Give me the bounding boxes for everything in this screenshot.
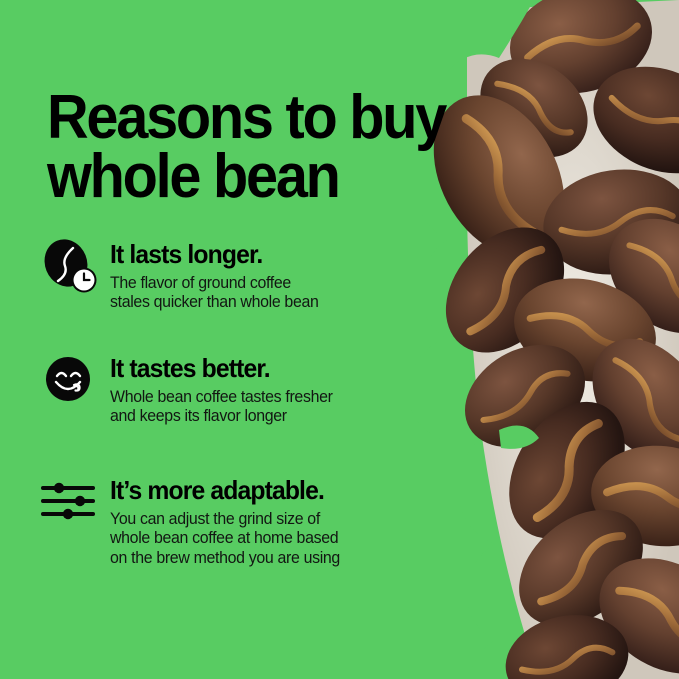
coffee-bean-clock-icon	[40, 238, 100, 298]
infographic-poster: Reasons to buy whole bean It lasts longe…	[0, 0, 679, 679]
page-title: Reasons to buy whole bean	[47, 88, 484, 207]
sliders-adjust-icon	[40, 474, 100, 534]
feature-title: It’s more adaptable.	[110, 477, 424, 504]
feature-description: The flavor of ground coffee stales quick…	[110, 274, 428, 312]
feature-title: It lasts longer.	[110, 241, 424, 268]
feature-list: It lasts longer. The flavor of ground co…	[40, 238, 440, 574]
feature-description: Whole bean coffee tastes fresher and kee…	[110, 388, 428, 426]
feature-text: It’s more adaptable. You can adjust the …	[110, 474, 440, 568]
feature-description: You can adjust the grind size of whole b…	[110, 510, 428, 567]
feature-text: It lasts longer. The flavor of ground co…	[110, 238, 440, 313]
feature-item-more-adaptable: It’s more adaptable. You can adjust the …	[40, 474, 440, 574]
feature-item-lasts-longer: It lasts longer. The flavor of ground co…	[40, 238, 440, 338]
feature-text: It tastes better. Whole bean coffee tast…	[110, 352, 440, 427]
smiley-tongue-icon	[40, 352, 100, 412]
feature-item-tastes-better: It tastes better. Whole bean coffee tast…	[40, 352, 440, 452]
feature-title: It tastes better.	[110, 355, 424, 382]
